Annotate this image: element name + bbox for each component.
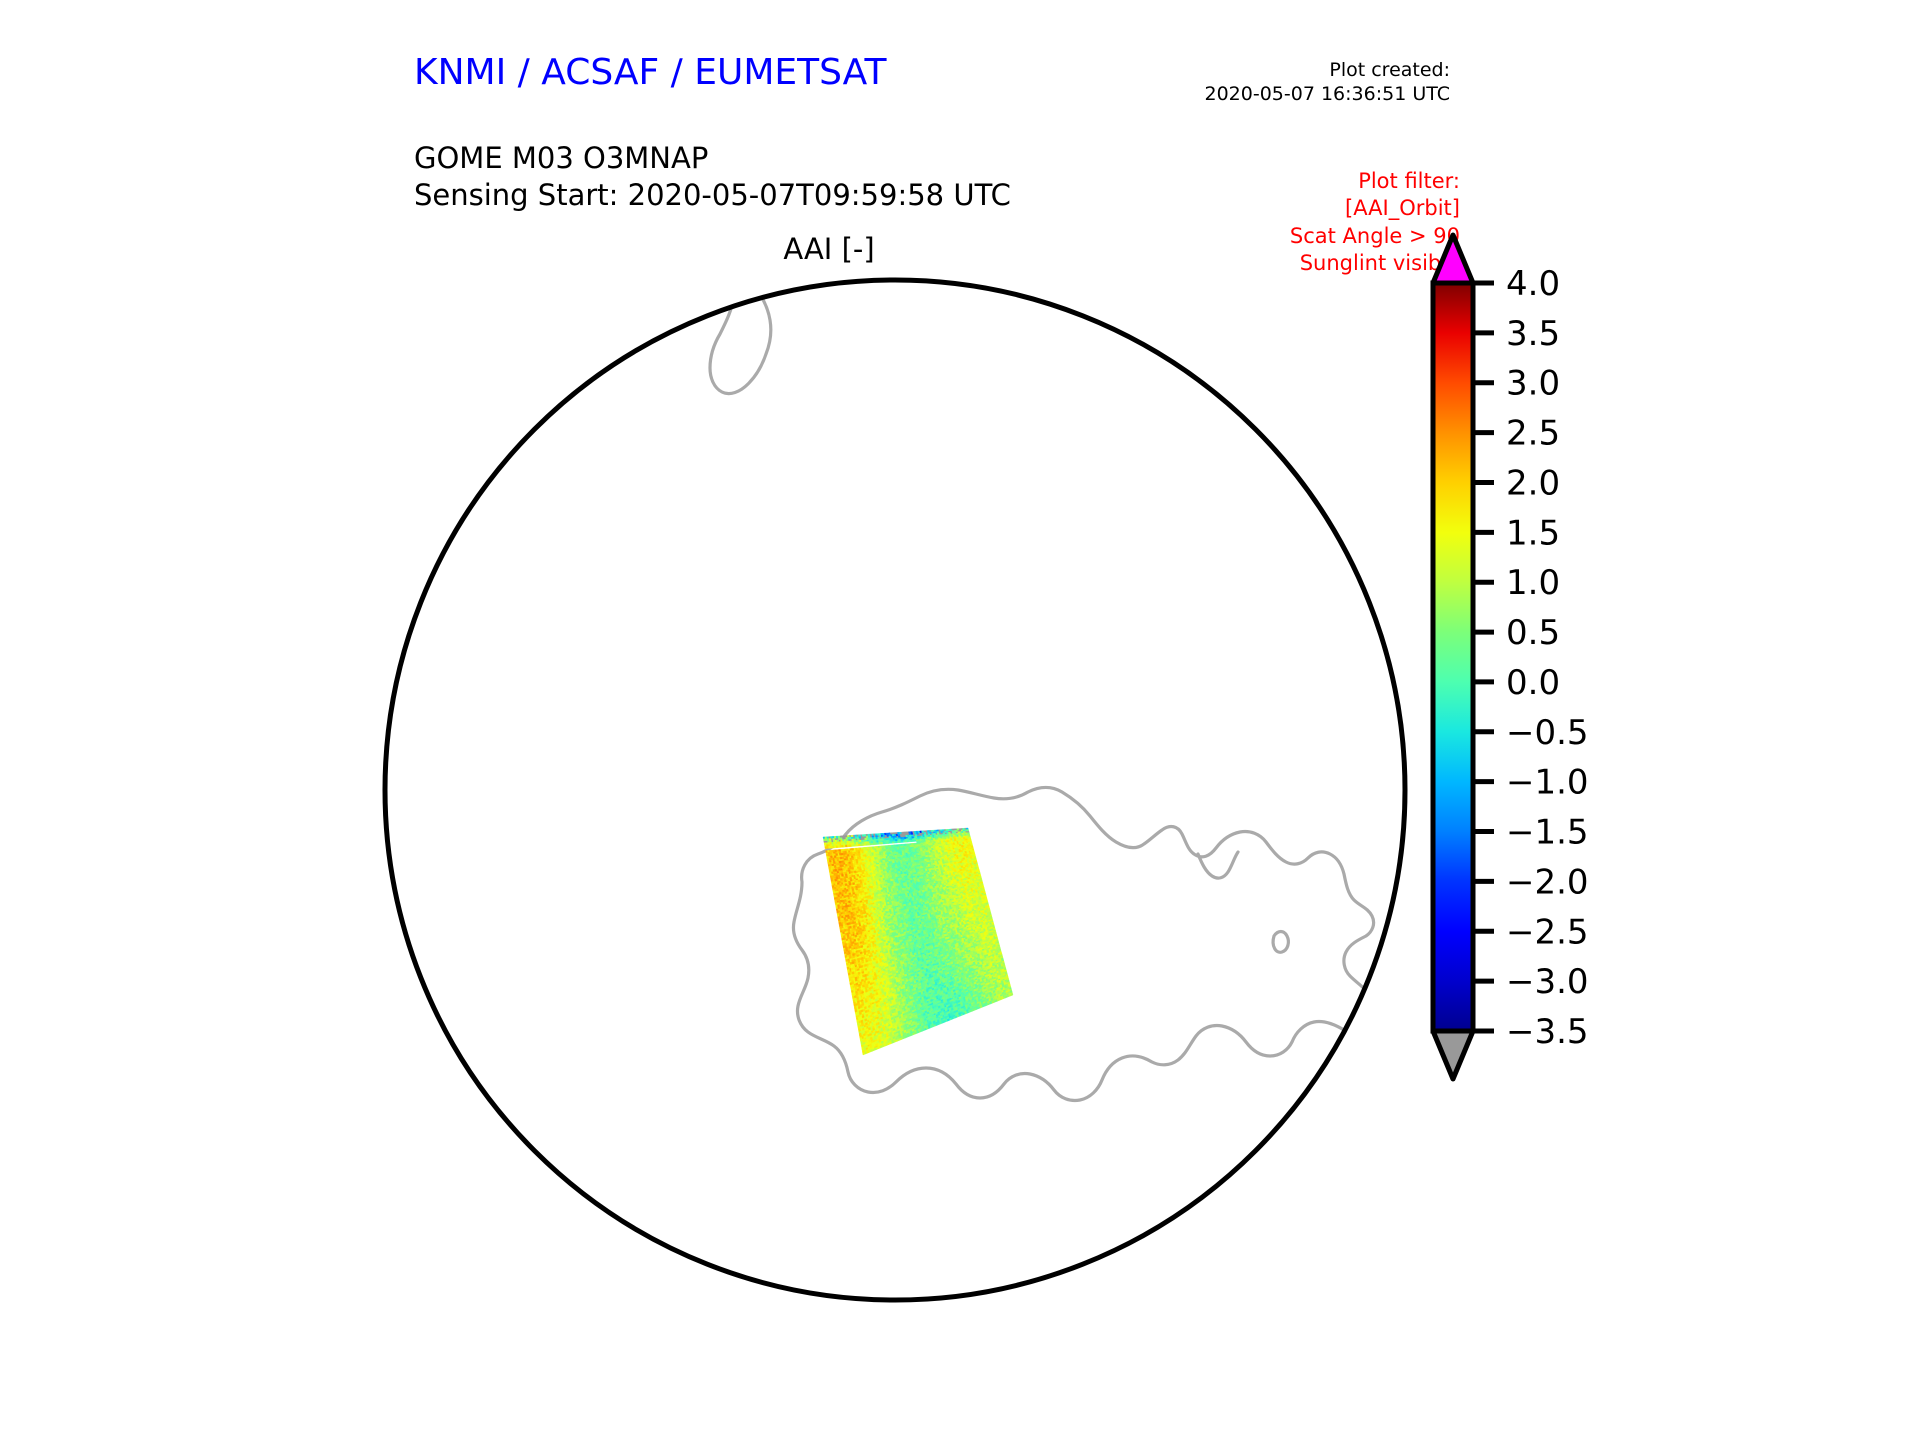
swath-pixel-group [944, 978, 946, 980]
swath-pixel-group [954, 918, 956, 920]
colorbar-tick-label: −1.5 [1506, 813, 1589, 853]
product-info-block: GOME M03 O3MNAP Sensing Start: 2020-05-0… [414, 140, 1011, 214]
map-disc-background [385, 280, 1405, 1300]
swath-pixel-group [916, 833, 918, 835]
colorbar-tick-label: 2.0 [1506, 463, 1560, 503]
colorbar-tick-label: 4.0 [1506, 264, 1560, 304]
map-svg [330, 250, 1450, 1370]
polar-map [330, 250, 1450, 1370]
coastline-island-small-left [513, 1162, 527, 1181]
swath-pixel-group [859, 837, 861, 839]
plot-filter-title: Plot filter: [1290, 168, 1460, 195]
swath-pixel-group [883, 835, 885, 837]
colorbar-over-arrow [1433, 235, 1473, 283]
coastline-tasmania [374, 250, 418, 280]
swath-pixel-group [891, 840, 893, 842]
colorbar-ticks: 4.03.53.02.52.01.51.00.50.0−0.5−1.0−1.5−… [1473, 264, 1589, 1052]
organisation-title: KNMI / ACSAF / EUMETSAT [414, 52, 886, 93]
colorbar-gradient-bar [1433, 283, 1473, 1031]
swath-pixel-group [917, 957, 919, 959]
swath-pixel-group [929, 832, 931, 834]
colorbar-tick-label: −2.5 [1506, 912, 1589, 952]
plot-filter-line-0: [AAI_Orbit] [1290, 195, 1460, 222]
swath-pixel-group [918, 998, 920, 1001]
colorbar-tick-label: 0.5 [1506, 613, 1560, 653]
colorbar-tick-label: 3.0 [1506, 364, 1560, 404]
colorbar-tick-label: 0.0 [1506, 663, 1560, 703]
sensing-start-line: Sensing Start: 2020-05-07T09:59:58 UTC [414, 177, 1011, 214]
swath-pixel-group [888, 833, 890, 835]
colorbar-tick-label: 1.0 [1506, 563, 1560, 603]
plot-created-block: Plot created: 2020-05-07 16:36:51 UTC [1205, 58, 1451, 107]
swath-pixel-group [923, 1013, 925, 1016]
colorbar-tick-label: −0.5 [1506, 713, 1589, 753]
colorbar-tick-label: 1.5 [1506, 513, 1560, 553]
swath-pixel-group [941, 831, 943, 833]
swath-pixel-group [926, 944, 928, 946]
colorbar-tick-label: −3.0 [1506, 962, 1589, 1002]
plot-canvas: KNMI / ACSAF / EUMETSAT Plot created: 20… [0, 0, 1920, 1440]
colorbar-tick-label: −2.0 [1506, 862, 1589, 902]
swath-pixel-group [887, 835, 889, 837]
swath-pixel-group [886, 838, 888, 840]
colorbar: 4.03.53.02.52.01.51.00.50.0−0.5−1.0−1.5−… [1420, 220, 1680, 1350]
swath-pixel-group [904, 844, 906, 846]
swath-pixel-group [928, 1008, 930, 1010]
swath-pixel-group [898, 836, 900, 838]
swath-pixel-group [894, 836, 896, 838]
swath-pixel-group [904, 837, 906, 839]
swath-pixel-group [922, 831, 924, 833]
colorbar-tick-label: −1.0 [1506, 763, 1589, 803]
coastline-tierra-del-fuego [1328, 1134, 1353, 1160]
instrument-product-line: GOME M03 O3MNAP [414, 140, 1011, 177]
swath-pixel-group [912, 837, 914, 839]
swath-pixel-group [841, 874, 843, 876]
colorbar-tick-label: 3.5 [1506, 314, 1560, 354]
colorbar-under-arrow [1433, 1031, 1473, 1079]
swath-pixel-group [835, 869, 837, 871]
coastline-new-zealand-north [766, 250, 821, 269]
swath-pixel-group [881, 837, 883, 839]
swath-pixel-group [848, 901, 850, 903]
plot-created-label: Plot created: [1205, 58, 1451, 82]
colorbar-tick-label: 2.5 [1506, 414, 1560, 454]
swath-pixel-group [849, 926, 851, 928]
coastline-island-tas [360, 285, 404, 331]
swath-pixel-group [855, 835, 857, 837]
colorbar-svg: 4.03.53.02.52.01.51.00.50.0−0.5−1.0−1.5−… [1420, 220, 1680, 1350]
colorbar-tick-label: −3.5 [1506, 1012, 1589, 1052]
swath-pixel-group [872, 836, 874, 838]
swath-pixel-group [942, 830, 944, 832]
plot-created-timestamp: 2020-05-07 16:36:51 UTC [1205, 82, 1451, 106]
swath-pixel-group [908, 837, 910, 839]
